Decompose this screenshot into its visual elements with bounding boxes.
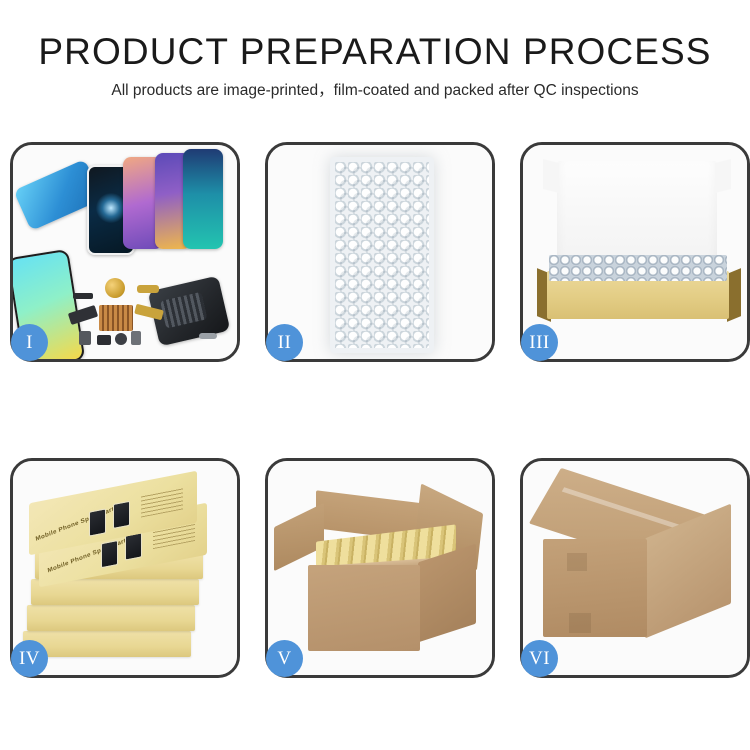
process-step-panel-3[interactable]: III (520, 142, 750, 362)
step-1-image (13, 145, 237, 359)
bubble-wrap-artwork (268, 145, 492, 359)
sealed-carton-artwork (523, 461, 747, 675)
stacked-box-item (27, 605, 195, 631)
open-carton-artwork (268, 461, 492, 675)
chip-grid-part-icon (99, 305, 133, 331)
box-stack-icon: Mobile Phone Spare Parts Mobile Phone Sp… (21, 481, 235, 667)
step-badge-2: II (266, 324, 303, 361)
page-header: PRODUCT PREPARATION PROCESS All products… (0, 0, 750, 102)
stacked-boxes-artwork: Mobile Phone Spare Parts Mobile Phone Sp… (13, 461, 237, 675)
process-step-panel-5[interactable]: V (265, 458, 495, 678)
step-badge-4: IV (11, 640, 48, 677)
wireless-coil-part-icon (105, 278, 125, 298)
step-3-image (523, 145, 747, 359)
step-badge-6: VI (521, 640, 558, 677)
adhesive-strip-part-icon (73, 293, 93, 299)
process-step-grid: I II III (10, 142, 740, 678)
box-thumbnail-icon (89, 508, 106, 536)
screws-part-icon (199, 333, 217, 339)
step-4-image: Mobile Phone Spare Parts Mobile Phone Sp… (13, 461, 237, 675)
box-tray-icon (547, 271, 729, 319)
camera-lens-part-icon (115, 333, 127, 345)
small-component-part-icon (97, 335, 111, 345)
step-6-image (523, 461, 747, 675)
step-badge-5: V (266, 640, 303, 677)
process-step-panel-2[interactable]: II (265, 142, 495, 362)
carton-tab-lower-icon (569, 613, 591, 633)
teal-gradient-phone-icon (183, 149, 223, 249)
carton-front-panel-icon (308, 565, 420, 651)
page-title: PRODUCT PREPARATION PROCESS (0, 30, 750, 74)
bubble-wrap-pouch-icon (330, 157, 434, 353)
box-thumbnail-icon (125, 532, 142, 560)
phone-parts-artwork (13, 145, 237, 359)
step-2-image (268, 145, 492, 359)
page-subtitle: All products are image-printed，film-coat… (0, 80, 750, 102)
process-step-panel-6[interactable]: VI (520, 458, 750, 678)
open-kraft-box-artwork (523, 145, 747, 359)
step-badge-1: I (11, 324, 48, 361)
step-5-image (268, 461, 492, 675)
process-step-panel-4[interactable]: Mobile Phone Spare Parts Mobile Phone Sp… (10, 458, 240, 678)
process-step-panel-1[interactable]: I (10, 142, 240, 362)
small-component-part-icon (131, 331, 141, 345)
box-thumbnail-icon (101, 540, 118, 568)
connector-part-icon (137, 285, 159, 293)
box-thumbnail-icon (113, 501, 130, 529)
box-spec-lines-icon (141, 487, 183, 517)
small-component-part-icon (79, 331, 91, 345)
carton-front-panel-icon (543, 539, 647, 637)
stacked-box-item (23, 631, 191, 657)
carton-tab-upper-icon (567, 553, 587, 571)
box-right-side-icon (727, 268, 741, 322)
carton-side-panel-icon (418, 544, 476, 643)
step-badge-3: III (521, 324, 558, 361)
